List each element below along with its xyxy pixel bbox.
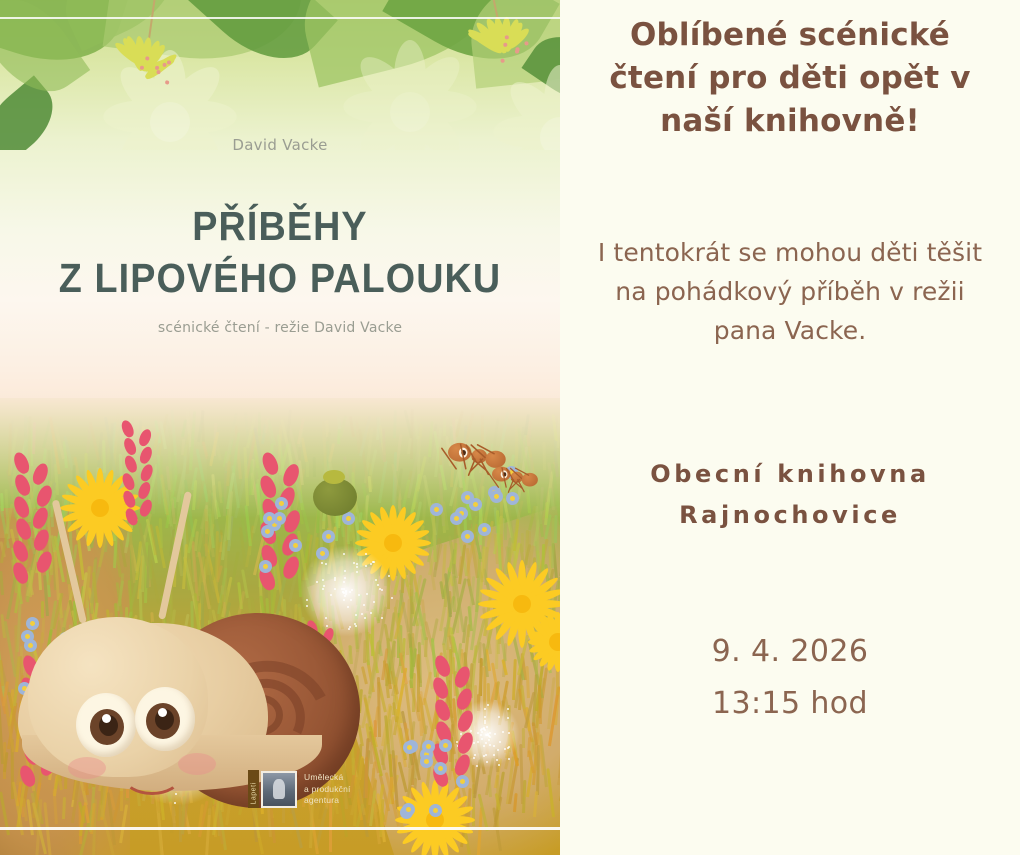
panel-description: I tentokrát se mohou děti těšit na pohád… xyxy=(586,233,994,350)
panel-headline: Oblíbené scénické čtení pro děti opět v … xyxy=(586,14,994,143)
forget-me-not-icon xyxy=(273,512,286,525)
event-date: 9. 4. 2026 xyxy=(586,626,994,678)
logo-vertical-text: Lapeti xyxy=(251,767,258,805)
venue-line-1: Obecní knihovna xyxy=(586,454,994,495)
forget-me-not-icon xyxy=(402,803,415,816)
book-cover: David Vacke PŘÍBĚHY Z LIPOVÉHO PALOUKU s… xyxy=(0,0,560,855)
venue-line-2: Rajnochovice xyxy=(586,495,994,536)
publisher-logo: Lapeti Umělecká a produkční agentura xyxy=(248,770,368,810)
forget-me-not-icon xyxy=(322,530,335,543)
logo-text-line1: Umělecká xyxy=(304,772,370,784)
snail-head xyxy=(28,617,208,777)
logo-text-line3: agentura xyxy=(304,795,370,807)
cover-typography: David Vacke PŘÍBĚHY Z LIPOVÉHO PALOUKU s… xyxy=(0,0,560,336)
event-time: 13:15 hod xyxy=(586,678,994,730)
cover-title-line1: PŘÍBĚHY xyxy=(22,200,537,252)
cover-author: David Vacke xyxy=(0,136,560,154)
forget-me-not-icon xyxy=(450,512,463,525)
panel-datetime: 9. 4. 2026 13:15 hod xyxy=(586,626,994,730)
cover-title-line2: Z LIPOVÉHO PALOUKU xyxy=(22,252,537,304)
logo-text-line2: a produkční xyxy=(304,784,370,796)
cover-subtitle: scénické čtení - režie David Vacke xyxy=(0,320,560,336)
snail-smile xyxy=(123,759,181,795)
forget-me-not-icon xyxy=(420,755,433,768)
logo-vertical-strip: Lapeti xyxy=(248,770,259,808)
poster: David Vacke PŘÍBĚHY Z LIPOVÉHO PALOUKU s… xyxy=(0,0,1020,855)
forget-me-not-icon xyxy=(469,498,482,511)
logo-text: Umělecká a produkční agentura xyxy=(304,772,370,807)
forget-me-not-icon xyxy=(403,741,416,754)
forget-me-not-icon xyxy=(456,775,469,788)
logo-photo xyxy=(261,771,297,808)
info-panel: Oblíbené scénické čtení pro děti opět v … xyxy=(560,0,1020,855)
forget-me-not-icon xyxy=(506,492,519,505)
forget-me-not-icon xyxy=(275,497,288,510)
cover-bottom-rule xyxy=(0,827,560,830)
cover-title: PŘÍBĚHY Z LIPOVÉHO PALOUKU xyxy=(22,200,537,304)
panel-venue: Obecní knihovna Rajnochovice xyxy=(586,454,994,536)
forget-me-not-icon xyxy=(478,523,491,536)
forget-me-not-icon xyxy=(434,762,447,775)
cover-top-rule xyxy=(0,17,560,19)
forget-me-not-icon xyxy=(439,739,452,752)
beetle-icon xyxy=(313,478,357,516)
forget-me-not-icon xyxy=(490,490,503,503)
